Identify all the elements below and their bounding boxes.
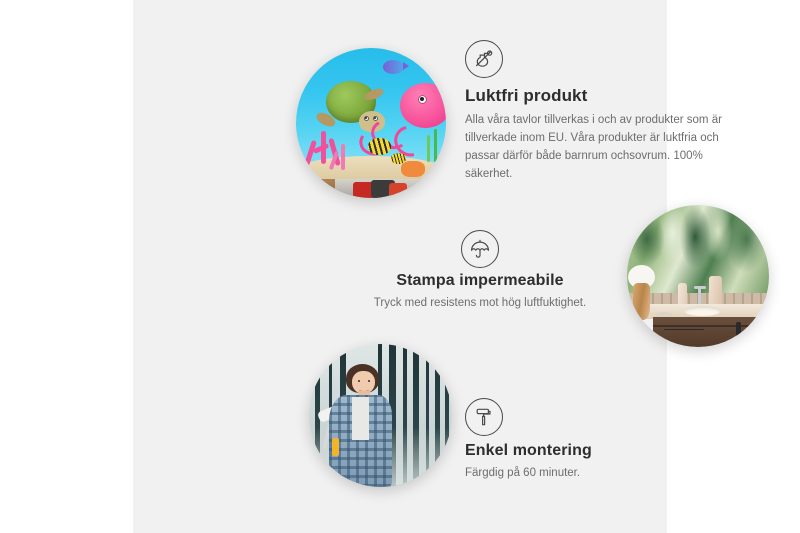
underwater-scene-art: [296, 48, 446, 198]
no-odour-spray-bottle-icon: [465, 40, 503, 78]
turtle-eye-right: [373, 116, 378, 121]
faucet: [698, 286, 701, 306]
paint-roller-icon: [465, 398, 503, 436]
forest-wallpaper-scene-art: [309, 344, 452, 487]
umbrella-icon: [461, 230, 499, 268]
feature-odourless: Luktfri produkt Alla våra tavlor tillver…: [465, 40, 751, 183]
feature-title: Enkel montering: [465, 442, 715, 460]
blue-fish: [383, 60, 404, 74]
vanity-cabinet: [653, 317, 769, 347]
feature-waterproof-print: Stampa impermeabile Tryck med resistens …: [355, 230, 605, 313]
turtle-eye-left: [364, 116, 369, 121]
underwater-cartoon-mural-thumbnail[interactable]: [296, 48, 446, 198]
paint-roller-grip: [332, 438, 339, 455]
feature-description: Alla våra tavlor tillverkas i och av pro…: [465, 111, 751, 184]
yellow-striped-fish-large: [368, 138, 391, 155]
woman-inner-top: [352, 397, 369, 440]
seaweed-2: [427, 135, 430, 162]
seaweed-1: [434, 129, 437, 162]
woman-with-paint-roller-forest-thumbnail[interactable]: [309, 344, 452, 487]
content-panel: Luktfri produkt Alla våra tavlor tillver…: [133, 0, 667, 533]
bathroom-tropical-wallpaper-thumbnail[interactable]: [627, 205, 769, 347]
coral-pink-small: [329, 144, 356, 174]
feature-title: Luktfri produkt: [465, 86, 751, 106]
feature-description: Färgdig på 60 minuter.: [465, 464, 715, 482]
feature-description: Tryck med resistens mot hög luftfuktighe…: [355, 294, 605, 312]
feature-easy-installation: Enkel montering Färgdig på 60 minuter.: [465, 398, 715, 483]
feature-title: Stampa impermeabile: [355, 272, 605, 290]
gold-vase: [633, 283, 650, 320]
sink-basin: [684, 306, 721, 316]
screenshot-canvas: Luktfri produkt Alla våra tavlor tillver…: [0, 0, 800, 533]
starfish: [401, 161, 425, 178]
octopus-head: [400, 83, 447, 128]
seabed-object-red-2: [389, 183, 407, 198]
octopus-eye: [418, 95, 427, 104]
bathroom-scene-art: [627, 205, 769, 347]
